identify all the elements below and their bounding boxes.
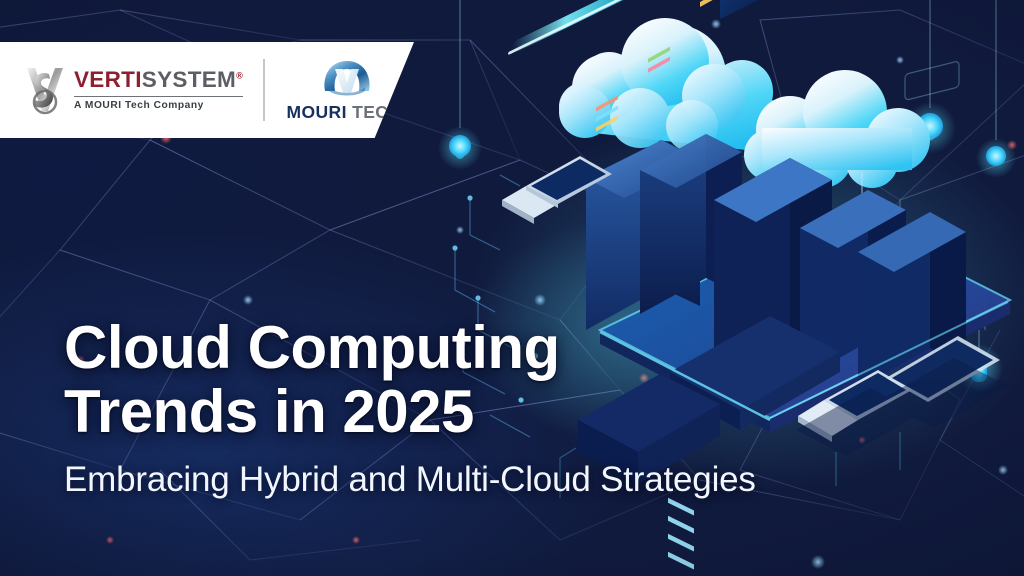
wordmark-part-mouri: MOURI xyxy=(287,102,347,122)
brand-logo-banner: VERTISYSTEM® A MOURI Tech Company xyxy=(0,42,414,138)
hero-banner-image: VERTISYSTEM® A MOURI Tech Company xyxy=(0,0,1024,576)
vertisystem-v-s-monogram-icon xyxy=(24,64,66,116)
mouri-tech-m-swoosh-icon xyxy=(321,57,373,97)
banner-divider xyxy=(263,59,265,121)
page-title: Cloud Computing Trends in 2025 xyxy=(64,316,704,444)
wordmark-part-system: SYSTEM xyxy=(142,67,236,92)
wordmark-part-verti: VERTI xyxy=(74,67,142,92)
registered-mark: ® xyxy=(236,71,243,81)
vertisystem-wordmark: VERTISYSTEM® xyxy=(74,69,243,92)
vertisystem-logo-lockup[interactable]: VERTISYSTEM® A MOURI Tech Company xyxy=(24,64,243,116)
page-subtitle: Embracing Hybrid and Multi-Cloud Strateg… xyxy=(64,460,904,500)
vertisystem-tagline: A MOURI Tech Company xyxy=(74,96,243,111)
